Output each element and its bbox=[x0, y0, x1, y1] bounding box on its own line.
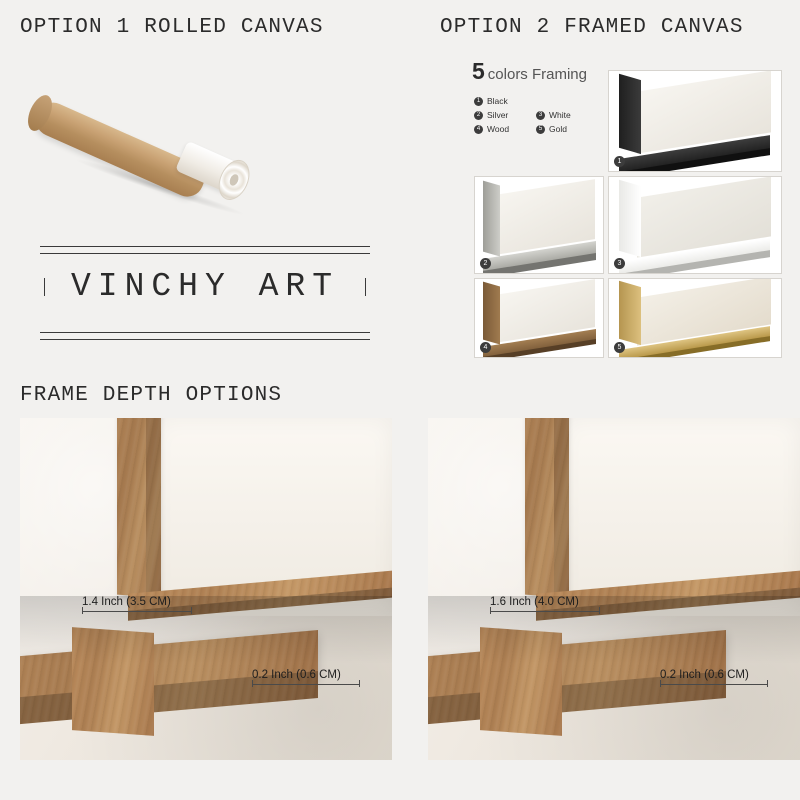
frame-swatch-grid: 1 2 3 bbox=[466, 58, 784, 358]
frame-bar-vertical bbox=[619, 280, 641, 344]
depth-dim-line bbox=[82, 611, 192, 612]
depth-dimension-label: 1.6 Inch (4.0 CM) bbox=[490, 596, 579, 608]
edge-dimension-label: 0.2 Inch (0.6 CM) bbox=[660, 669, 749, 681]
swatch-number-1: 1 bbox=[614, 156, 625, 167]
depth-dim-tick-start bbox=[82, 607, 83, 614]
rolled-canvas-tube-icon bbox=[30, 70, 290, 190]
frame-swatch-white[interactable]: 3 bbox=[608, 176, 782, 274]
depth-dim-line bbox=[490, 611, 600, 612]
frame-swatch-gold[interactable]: 5 bbox=[608, 278, 782, 358]
edge-dim-tick-end bbox=[359, 680, 360, 687]
frame-bar-vertical bbox=[619, 74, 641, 154]
tube-body bbox=[31, 97, 209, 201]
frame-bar-vertical bbox=[483, 281, 500, 343]
frame-bar-vertical bbox=[619, 180, 641, 257]
swatch-number-5: 5 bbox=[614, 342, 625, 353]
frame-front-bar-end bbox=[480, 627, 562, 735]
frame-bar-vertical bbox=[483, 180, 500, 256]
edge-dim-line bbox=[660, 684, 768, 685]
logo-rule-top-2 bbox=[40, 253, 370, 254]
frame-swatch-black[interactable]: 1 bbox=[608, 70, 782, 172]
depth-dim-tick-end bbox=[191, 607, 192, 614]
edge-dim-line bbox=[252, 684, 360, 685]
edge-dim-tick-start bbox=[252, 680, 253, 687]
frame-depth-title: FRAME DEPTH OPTIONS bbox=[20, 384, 282, 407]
edge-dim-tick-end bbox=[767, 680, 768, 687]
logo-text: VINCHY ART bbox=[40, 268, 370, 305]
frame-corner-illustration bbox=[609, 177, 781, 273]
logo-rule-bottom-2 bbox=[40, 339, 370, 340]
frame-corner-illustration bbox=[609, 71, 781, 171]
option-2-title: OPTION 2 FRAMED CANVAS bbox=[440, 16, 744, 39]
frame-vertical-bar-side bbox=[554, 418, 569, 600]
frame-swatch-silver[interactable]: 2 bbox=[474, 176, 604, 274]
frame-depth-photo-right: 1.6 Inch (4.0 CM) 0.2 Inch (0.6 CM) bbox=[428, 418, 800, 760]
depth-dimension-label: 1.4 Inch (3.5 CM) bbox=[82, 596, 171, 608]
frame-vertical-bar-side bbox=[146, 418, 161, 600]
logo-rule-bottom-1 bbox=[40, 332, 370, 333]
edge-dimension-label: 0.2 Inch (0.6 CM) bbox=[252, 669, 341, 681]
swatch-number-3: 3 bbox=[614, 258, 625, 269]
frame-front-bar-end bbox=[72, 627, 154, 735]
logo-rule-top-1 bbox=[40, 246, 370, 247]
frame-corner-illustration bbox=[475, 177, 603, 273]
depth-dim-tick-start bbox=[490, 607, 491, 614]
frame-swatch-wood[interactable]: 4 bbox=[474, 278, 604, 358]
brand-logo: VINCHY ART bbox=[40, 246, 370, 346]
frame-depth-photo-left: 1.4 Inch (3.5 CM) 0.2 Inch (0.6 CM) bbox=[20, 418, 392, 760]
swatch-number-4: 4 bbox=[480, 342, 491, 353]
product-infographic-page: OPTION 1 ROLLED CANVAS VINCHY ART OPTION… bbox=[0, 0, 800, 800]
frame-corner-illustration bbox=[609, 279, 781, 357]
option-1-title: OPTION 1 ROLLED CANVAS bbox=[20, 16, 324, 39]
depth-dim-tick-end bbox=[599, 607, 600, 614]
swatch-number-2: 2 bbox=[480, 258, 491, 269]
frame-corner-illustration bbox=[475, 279, 603, 357]
framing-colors-panel: 5colors Framing 1 Black 2 Silver 3 White bbox=[466, 58, 784, 358]
edge-dim-tick-start bbox=[660, 680, 661, 687]
